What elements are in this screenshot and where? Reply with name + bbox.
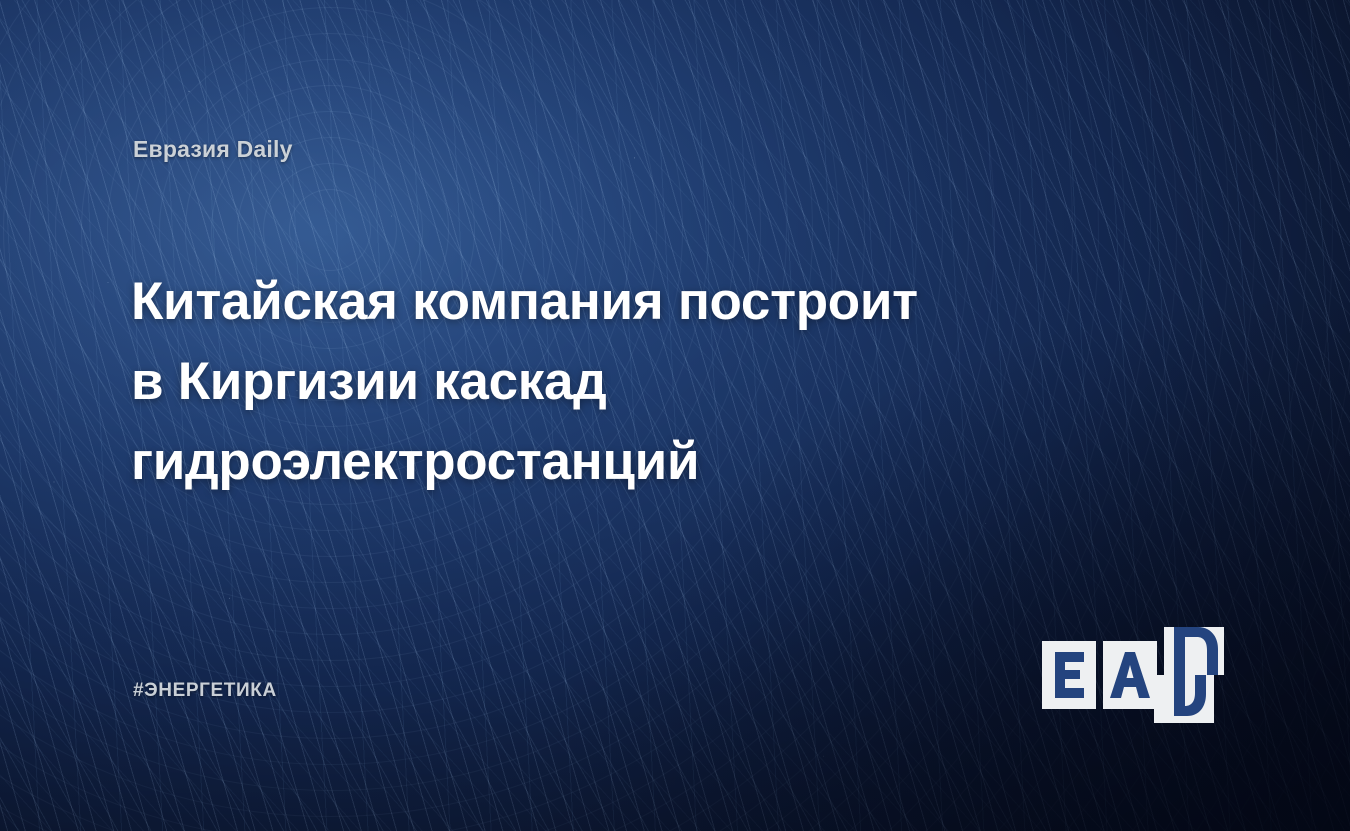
headline-line-2: в Киргизии каскад	[131, 342, 1031, 422]
headline-line-3: гидроэлектростанций	[131, 422, 1031, 502]
headline-line-1: Китайская компания построит	[131, 262, 1031, 342]
ead-logo	[1042, 627, 1224, 709]
headline: Китайская компания построит в Киргизии к…	[131, 262, 1031, 502]
logo-tile-letter-d-lower	[1154, 675, 1214, 723]
article-share-card: Евразия Daily Китайская компания построи…	[0, 0, 1350, 831]
category-hashtag[interactable]: #ЭНЕРГЕТИКА	[133, 680, 277, 702]
logo-tile-letter-d-upper	[1164, 627, 1224, 675]
logo-tile-letter-e	[1042, 641, 1096, 709]
brand-name: Евразия Daily	[133, 136, 293, 163]
logo-tile-letter-a	[1103, 641, 1157, 709]
